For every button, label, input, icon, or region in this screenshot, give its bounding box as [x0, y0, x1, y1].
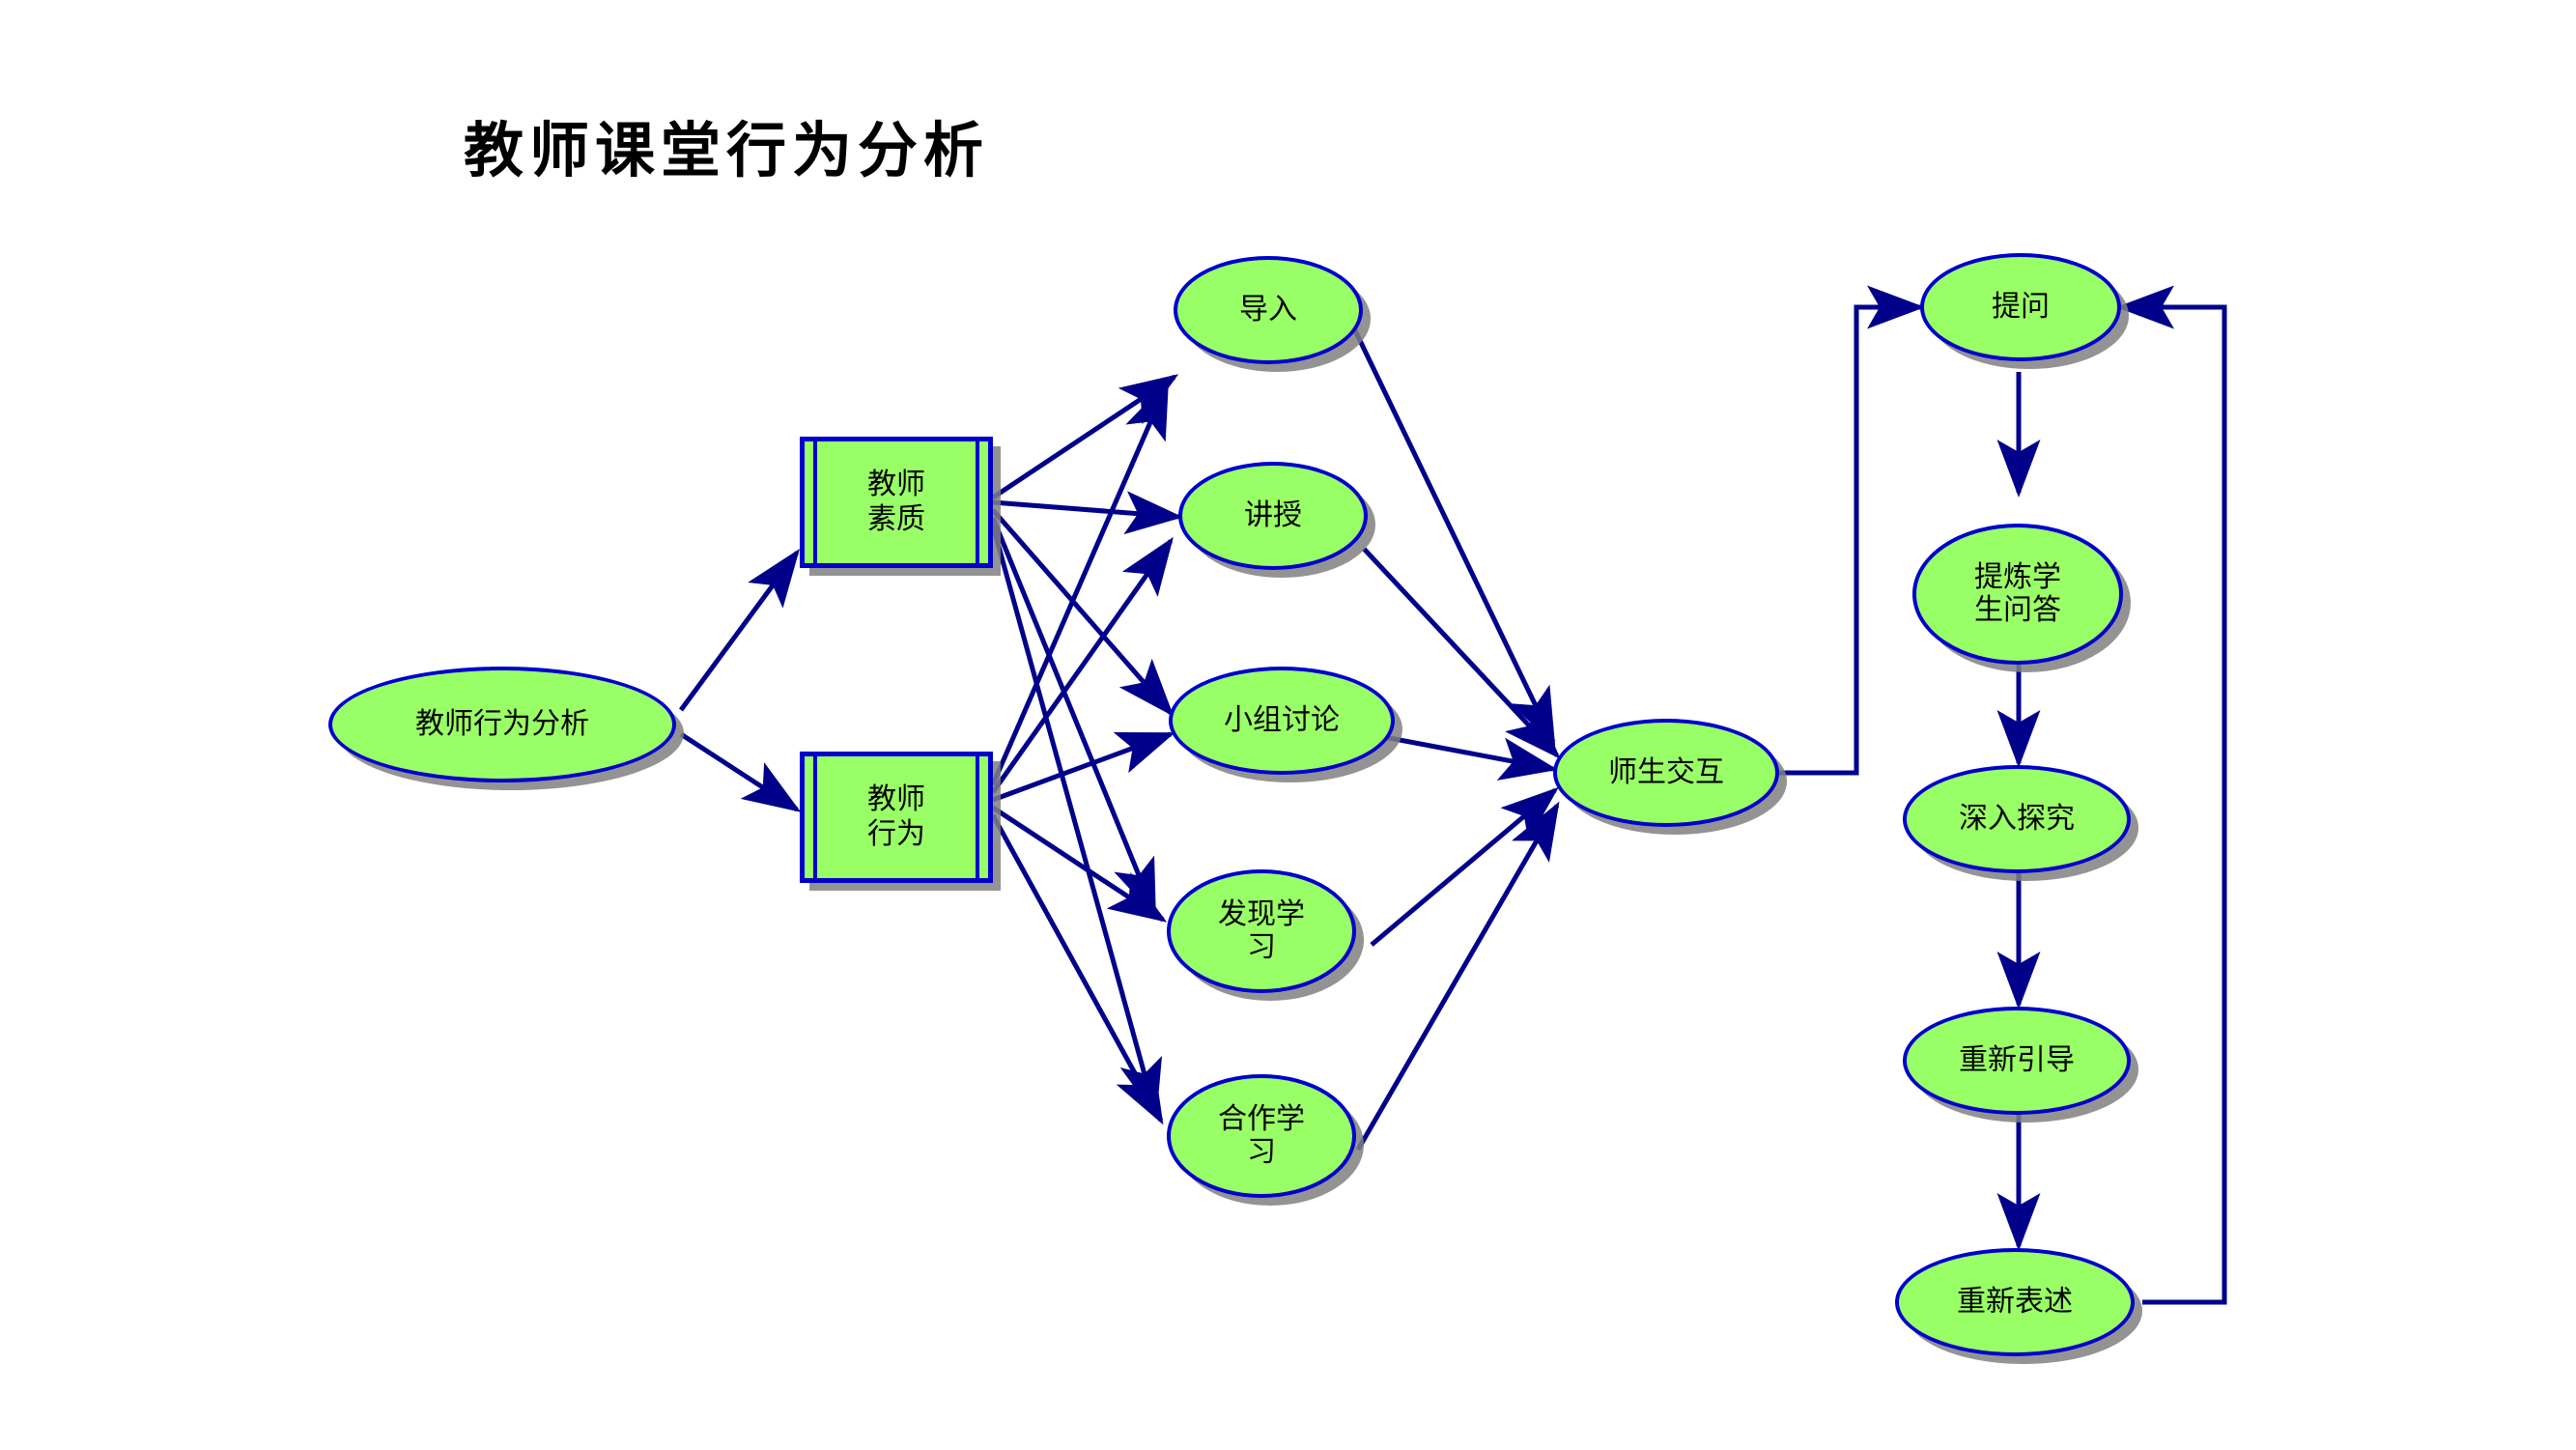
node-refine-qa-label: 提炼学 生问答	[1974, 561, 2061, 626]
node-question-label: 提问	[1992, 291, 2050, 324]
node-question[interactable]: 提问	[1920, 253, 2121, 361]
node-restate-label: 重新表述	[1957, 1286, 2073, 1319]
edge-root-quality	[681, 553, 797, 710]
node-teacher-quality[interactable]: 教师 素质	[800, 437, 993, 568]
node-restate[interactable]: 重新表述	[1895, 1248, 2135, 1356]
node-teacher-quality-label: 教师 素质	[867, 468, 925, 537]
node-cooperative-learning-label: 合作学 习	[1218, 1103, 1305, 1168]
edge-intro-interaction	[1354, 328, 1553, 742]
edge-root-behavior	[681, 734, 797, 810]
node-intro-label: 导入	[1239, 294, 1297, 327]
edge-behavior-intro	[993, 384, 1167, 784]
edge-quality-lecture	[993, 502, 1178, 517]
edge-quality-coop	[993, 526, 1155, 1113]
node-interaction-label: 师生交互	[1608, 756, 1724, 789]
edge-coop-interaction	[1358, 806, 1557, 1150]
edge-interaction-question	[1777, 307, 1920, 773]
node-group-discussion-label: 小组讨论	[1224, 704, 1340, 737]
page-title: 教师课堂行为分析	[464, 101, 989, 188]
edge-restate-question	[2121, 307, 2224, 1302]
diagram-canvas: 教师课堂行为分析	[0, 0, 2576, 1450]
node-cooperative-learning[interactable]: 合作学 习	[1167, 1074, 1356, 1198]
node-group-discussion[interactable]: 小组讨论	[1169, 667, 1395, 775]
node-reguide[interactable]: 重新引导	[1903, 1007, 2131, 1115]
edge-behavior-coop	[993, 815, 1161, 1121]
node-interaction[interactable]: 师生交互	[1553, 719, 1779, 827]
node-root-label: 教师行为分析	[415, 708, 589, 741]
node-intro[interactable]: 导入	[1174, 256, 1363, 364]
node-deep-inquiry-label: 深入探究	[1959, 803, 2075, 836]
node-deep-inquiry[interactable]: 深入探究	[1903, 765, 2131, 873]
edge-behavior-lecture	[993, 541, 1171, 792]
edge-behavior-discovery	[993, 808, 1163, 920]
node-discovery-learning[interactable]: 发现学 习	[1167, 869, 1356, 993]
edge-discovery-interaction	[1372, 790, 1555, 945]
node-teacher-behavior[interactable]: 教师 行为	[800, 752, 993, 883]
edge-quality-group	[993, 510, 1171, 713]
edge-group-interaction	[1379, 736, 1553, 769]
node-lecture-label: 讲授	[1244, 499, 1302, 532]
edge-quality-intro	[993, 377, 1175, 498]
node-teacher-behavior-label: 教师 行为	[867, 782, 925, 852]
node-root[interactable]: 教师行为分析	[328, 667, 676, 782]
edge-behavior-group	[993, 734, 1171, 800]
node-refine-qa[interactable]: 提炼学 生问答	[1912, 524, 2123, 665]
node-lecture[interactable]: 讲授	[1178, 462, 1368, 570]
edge-quality-discovery	[993, 518, 1154, 913]
node-discovery-learning-label: 发现学 习	[1218, 898, 1305, 963]
node-reguide-label: 重新引导	[1959, 1044, 2075, 1077]
